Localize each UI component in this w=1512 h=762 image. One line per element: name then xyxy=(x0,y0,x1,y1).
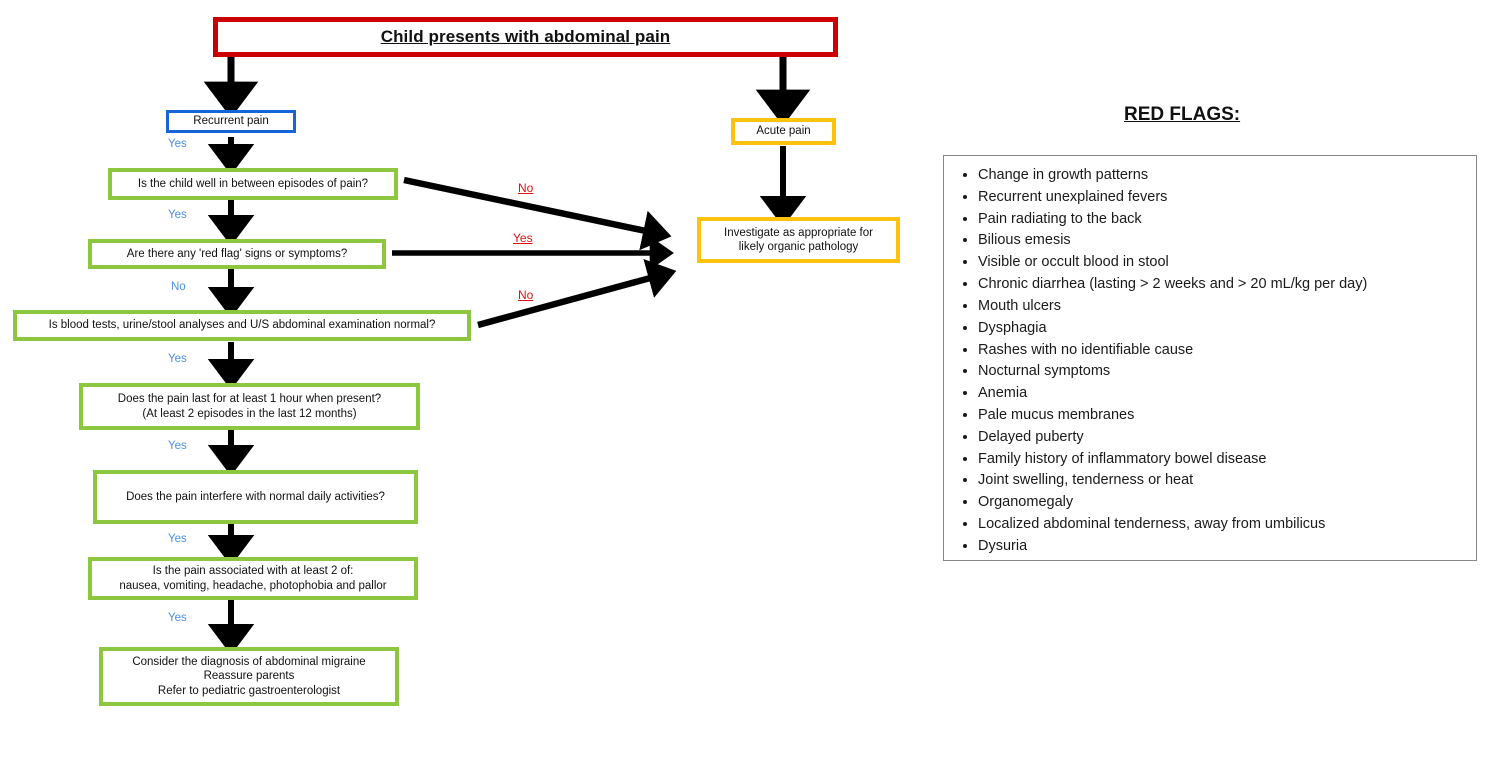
node-outcome-investigate[interactable]: Investigate as appropriate for likely or… xyxy=(697,217,900,263)
red-flags-panel: Change in growth patternsRecurrent unexp… xyxy=(943,155,1477,561)
edge-label-yes-3: Yes xyxy=(168,353,187,365)
edge-label-yes-2: Yes xyxy=(168,209,187,221)
node-recurrent-pain[interactable]: Recurrent pain xyxy=(166,110,296,133)
node-decision-red-flag-signs[interactable]: Are there any 'red flag' signs or sympto… xyxy=(88,239,386,269)
red-flag-item: Family history of inflammatory bowel dis… xyxy=(978,449,1466,471)
node-decision-well-between-episodes[interactable]: Is the child well in between episodes of… xyxy=(108,168,398,200)
edge-label-yes-5: Yes xyxy=(168,533,187,545)
red-flag-item: Rashes with no identifiable cause xyxy=(978,340,1466,362)
edge-label-yes-6: Yes xyxy=(168,612,187,624)
red-flags-title: RED FLAGS: xyxy=(1124,104,1240,126)
edge-label-branch-no-1: No xyxy=(518,181,533,195)
node-decision-interferes-daily-label: Does the pain interfere with normal dail… xyxy=(119,490,392,504)
edge-label-branch-no-2: No xyxy=(518,288,533,302)
node-decision-interferes-daily[interactable]: Does the pain interfere with normal dail… xyxy=(93,470,418,524)
red-flag-item: Pain radiating to the back xyxy=(978,209,1466,231)
red-flag-item: Localized abdominal tenderness, away fro… xyxy=(978,514,1466,536)
red-flag-item: Dysphagia xyxy=(978,318,1466,340)
red-flag-item: Dysuria xyxy=(978,536,1466,558)
node-recurrent-pain-label: Recurrent pain xyxy=(186,114,275,128)
red-flag-item: Recurrent unexplained fevers xyxy=(978,187,1466,209)
node-decision-associated-symptoms-label: Is the pain associated with at least 2 o… xyxy=(112,564,393,592)
red-flags-list: Change in growth patternsRecurrent unexp… xyxy=(944,156,1476,567)
node-decision-pain-duration-label: Does the pain last for at least 1 hour w… xyxy=(111,392,388,420)
node-outcome-abdominal-migraine-label: Consider the diagnosis of abdominal migr… xyxy=(125,655,372,697)
edge-label-no-1: No xyxy=(171,281,186,293)
red-flag-item: Nocturnal symptoms xyxy=(978,361,1466,383)
node-acute-pain[interactable]: Acute pain xyxy=(731,118,836,145)
red-flag-item: Anemia xyxy=(978,383,1466,405)
red-flag-item: Organomegaly xyxy=(978,492,1466,514)
red-flag-item: Mouth ulcers xyxy=(978,296,1466,318)
node-decision-well-between-episodes-label: Is the child well in between episodes of… xyxy=(131,177,375,191)
node-decision-red-flag-signs-label: Are there any 'red flag' signs or sympto… xyxy=(120,247,354,261)
node-child-presents[interactable]: Child presents with abdominal pain xyxy=(213,17,838,57)
edge-label-yes-1: Yes xyxy=(168,138,187,150)
red-flag-item: Delayed puberty xyxy=(978,427,1466,449)
red-flag-item: Pale mucus membranes xyxy=(978,405,1466,427)
node-outcome-investigate-label: Investigate as appropriate for likely or… xyxy=(717,226,880,254)
node-acute-pain-label: Acute pain xyxy=(749,124,817,138)
arrow-q3-no-to-investigate xyxy=(478,274,665,325)
node-decision-associated-symptoms[interactable]: Is the pain associated with at least 2 o… xyxy=(88,557,418,600)
red-flag-item: Change in growth patterns xyxy=(978,165,1466,187)
red-flag-item: Chronic diarrhea (lasting > 2 weeks and … xyxy=(978,274,1466,296)
red-flag-item: Joint swelling, tenderness or heat xyxy=(978,470,1466,492)
node-decision-tests-normal[interactable]: Is blood tests, urine/stool analyses and… xyxy=(13,310,471,341)
edge-label-yes-4: Yes xyxy=(168,440,187,452)
node-decision-pain-duration[interactable]: Does the pain last for at least 1 hour w… xyxy=(79,383,420,430)
edge-label-branch-yes-1: Yes xyxy=(513,231,533,245)
node-decision-tests-normal-label: Is blood tests, urine/stool analyses and… xyxy=(42,318,443,332)
red-flag-item: Visible or occult blood in stool xyxy=(978,252,1466,274)
node-outcome-abdominal-migraine[interactable]: Consider the diagnosis of abdominal migr… xyxy=(99,647,399,706)
red-flag-item: Bilious emesis xyxy=(978,230,1466,252)
flowchart-canvas: Child presents with abdominal pain Recur… xyxy=(0,0,1512,762)
node-child-presents-label: Child presents with abdominal pain xyxy=(381,27,671,48)
